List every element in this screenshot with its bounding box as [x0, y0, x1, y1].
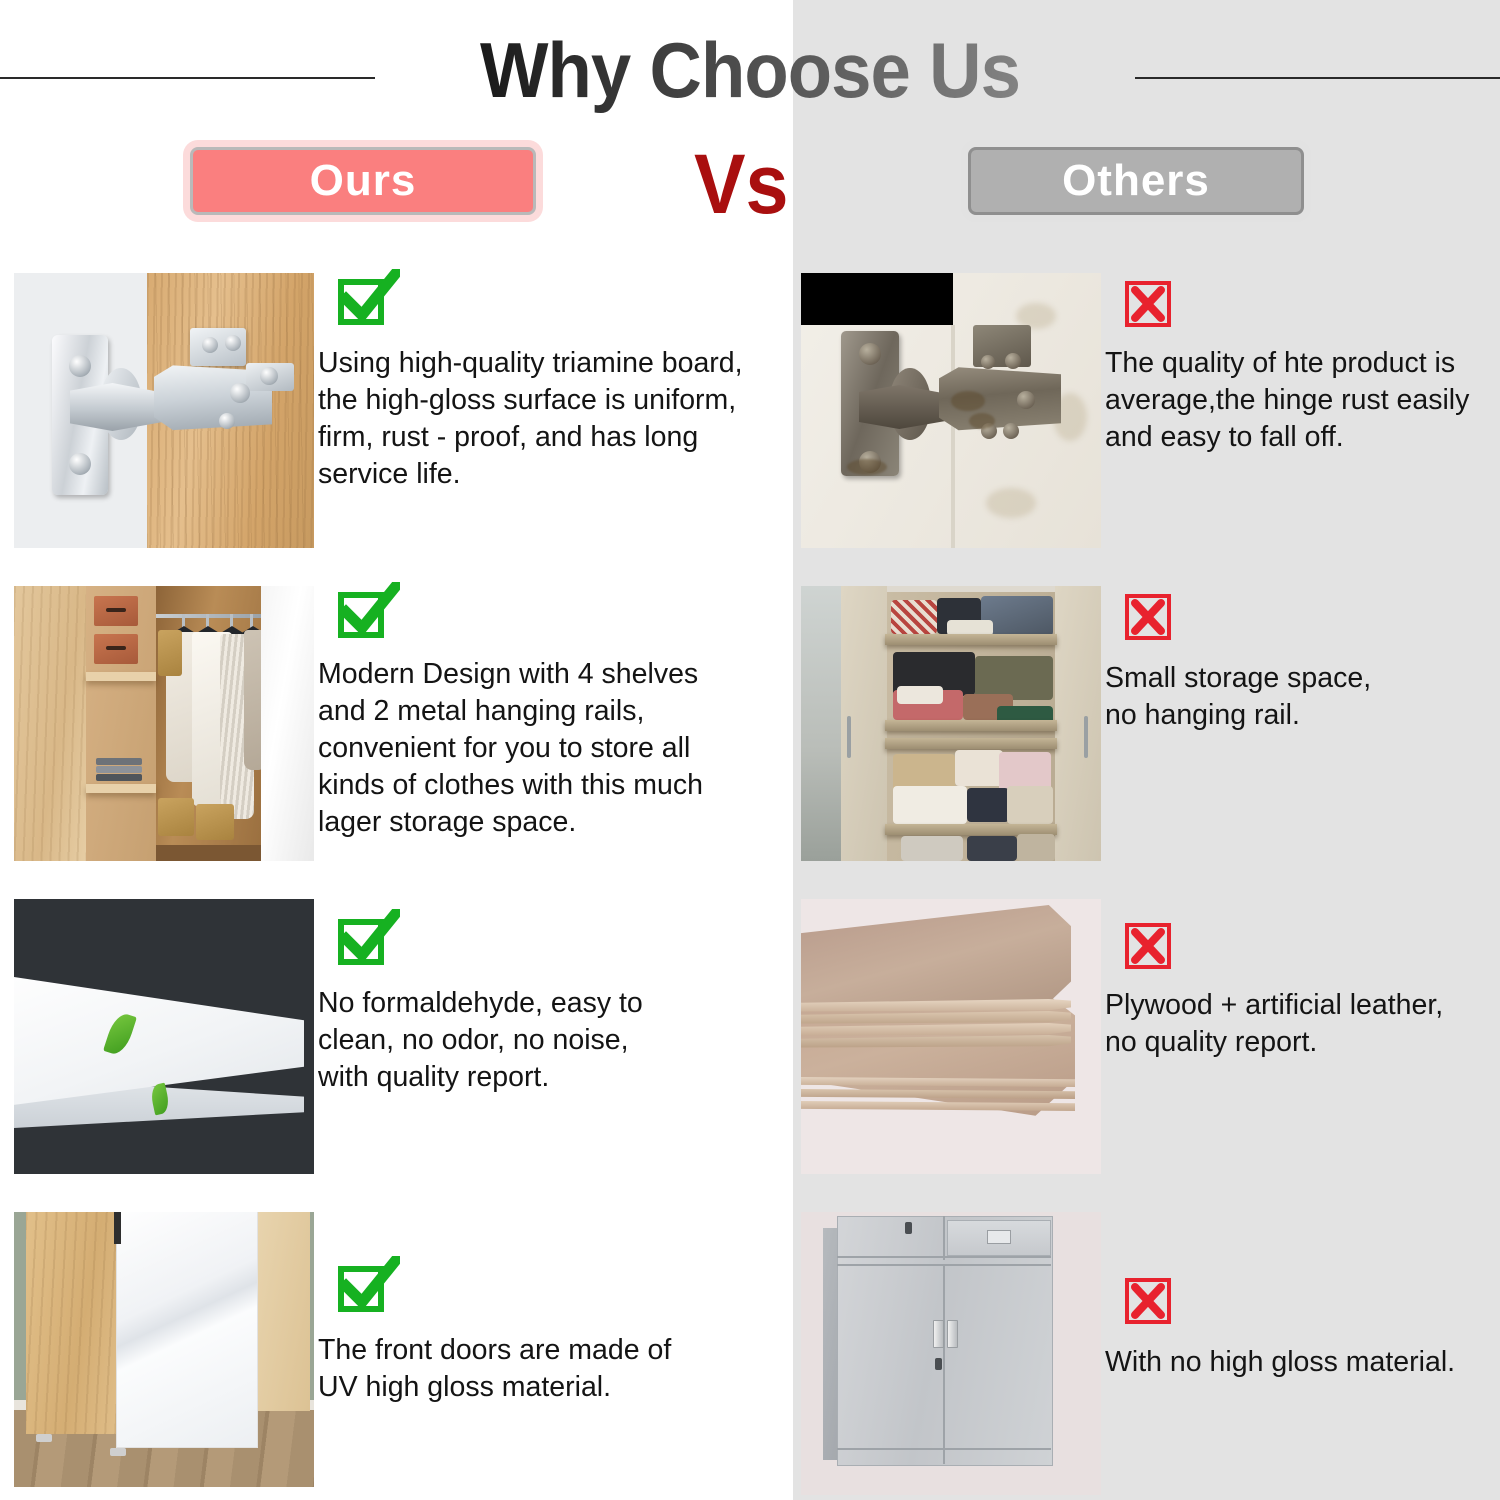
- red-cross-icon: [1125, 281, 1171, 327]
- row-3-others-text: Plywood + artificial leather, no quality…: [1105, 987, 1443, 1061]
- row-3-ours-content: No formaldehyde, easy to clean, no odor,…: [318, 891, 773, 1204]
- cross-glyph: [1129, 1282, 1167, 1320]
- row-2-others-content: Small storage space, no hanging rail.: [1105, 578, 1495, 891]
- vs-label: Vs: [694, 136, 832, 233]
- green-check-icon: [338, 1266, 384, 1312]
- green-check-icon: [338, 279, 384, 325]
- hinge-rusty-photo: [801, 273, 1101, 548]
- green-check-icon: [338, 919, 384, 965]
- red-cross-icon: [1125, 594, 1171, 640]
- red-cross-icon: [1125, 923, 1171, 969]
- cross-glyph: [1129, 285, 1167, 323]
- plywood-photo: [801, 899, 1101, 1174]
- check-glyph: [338, 269, 400, 331]
- row-3-ours-cell: No formaldehyde, easy to clean, no odor,…: [0, 891, 793, 1204]
- row-2-ours-text: Modern Design with 4 shelves and 2 metal…: [318, 656, 703, 841]
- row-4-others-cell: With no high gloss material.: [793, 1204, 1500, 1500]
- red-cross-icon: [1125, 1278, 1171, 1324]
- cross-glyph: [1129, 598, 1167, 636]
- row-4-ours-cell: The front doors are made of UV high glos…: [0, 1204, 793, 1500]
- ours-badge-label: Ours: [310, 156, 417, 206]
- wardrobe-messy-photo: [801, 586, 1101, 861]
- comparison-row-2: Modern Design with 4 shelves and 2 metal…: [0, 578, 1500, 891]
- green-check-icon: [338, 592, 384, 638]
- row-3-others-content: Plywood + artificial leather, no quality…: [1105, 891, 1495, 1204]
- check-glyph: [338, 582, 400, 644]
- gloss-cabinet-photo: [14, 1212, 314, 1495]
- row-1-ours-content: Using high-quality triamine board, the h…: [318, 265, 773, 578]
- row-2-ours-content: Modern Design with 4 shelves and 2 metal…: [318, 578, 773, 891]
- row-1-ours-cell: Using high-quality triamine board, the h…: [0, 265, 793, 578]
- comparison-row-4: The front doors are made of UV high glos…: [0, 1204, 1500, 1500]
- board-leaf-photo: [14, 899, 314, 1174]
- hinge-good-photo: [14, 273, 314, 548]
- comparison-row-1: Using high-quality triamine board, the h…: [0, 265, 1500, 578]
- row-2-ours-cell: Modern Design with 4 shelves and 2 metal…: [0, 578, 793, 891]
- row-2-others-cell: Small storage space, no hanging rail.: [793, 578, 1500, 891]
- page-title: Why Choose Us: [53, 25, 1448, 116]
- row-4-ours-text: The front doors are made of UV high glos…: [318, 1332, 671, 1406]
- row-3-ours-text: No formaldehyde, easy to clean, no odor,…: [318, 985, 643, 1096]
- ours-badge: Ours: [190, 147, 536, 215]
- row-1-others-cell: The quality of hte product is average,th…: [793, 265, 1500, 578]
- header: Why Choose Us Ours Vs Others: [0, 0, 1500, 250]
- check-glyph: [338, 1256, 400, 1318]
- comparison-row-3: No formaldehyde, easy to clean, no odor,…: [0, 891, 1500, 1204]
- wardrobe-organized-photo: [14, 586, 314, 861]
- row-1-ours-text: Using high-quality triamine board, the h…: [318, 345, 743, 493]
- row-4-others-content: With no high gloss material.: [1105, 1204, 1495, 1500]
- row-1-others-content: The quality of hte product is average,th…: [1105, 265, 1495, 578]
- others-badge-label: Others: [1062, 156, 1210, 206]
- check-glyph: [338, 909, 400, 971]
- row-4-others-text: With no high gloss material.: [1105, 1344, 1455, 1381]
- comparison-infographic: Why Choose Us Ours Vs Others: [0, 0, 1500, 1500]
- row-3-others-cell: Plywood + artificial leather, no quality…: [793, 891, 1500, 1204]
- row-2-others-text: Small storage space, no hanging rail.: [1105, 660, 1371, 734]
- row-4-ours-content: The front doors are made of UV high glos…: [318, 1204, 773, 1500]
- cross-glyph: [1129, 927, 1167, 965]
- others-badge: Others: [968, 147, 1304, 215]
- metal-cabinet-photo: [801, 1212, 1101, 1495]
- row-1-others-text: The quality of hte product is average,th…: [1105, 345, 1469, 456]
